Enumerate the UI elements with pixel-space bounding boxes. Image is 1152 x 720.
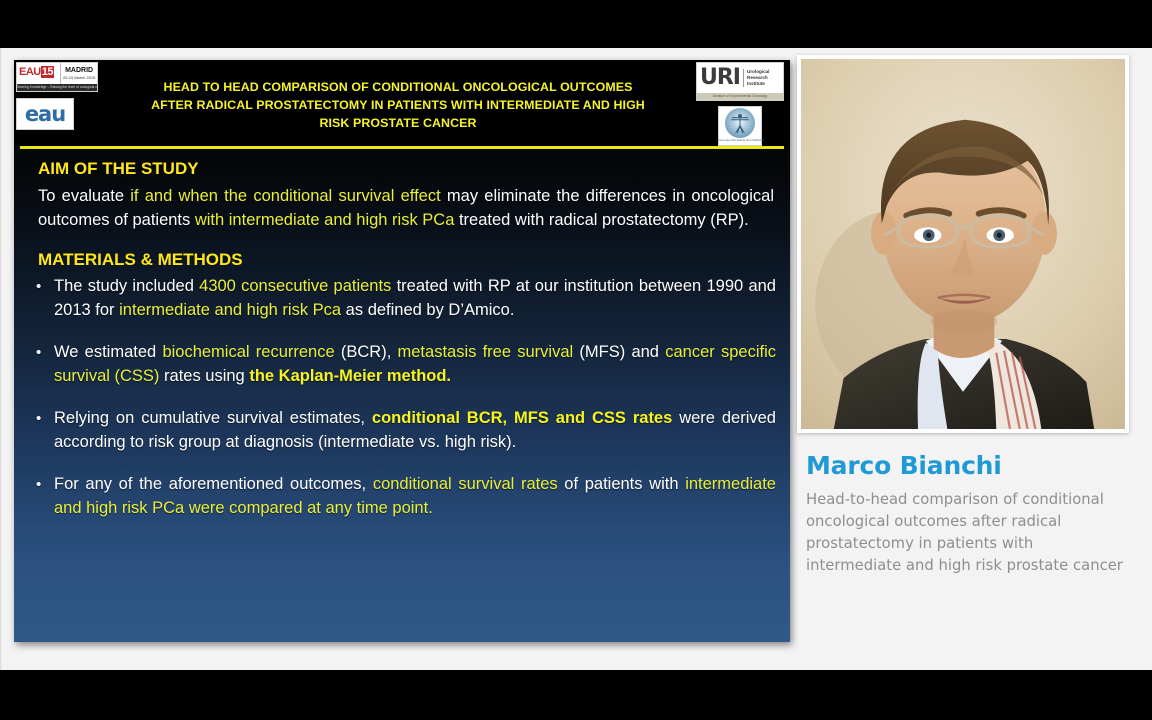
eau15-dates-label: 20-24 March 2015 [63,75,95,81]
methods-heading: MATERIALS & METHODS [38,249,776,270]
vitruvian-caption: Università Vita-Salute San Raffaele [717,138,764,143]
methods-bullet-list: • The study included 4300 consecutive pa… [28,275,776,520]
screenshot-viewport: EAU15 MADRID 20-24 March 2015 Sharing Kn… [0,0,1152,720]
slide-title-line-3: RISK PROSTATE CANCER [110,114,686,132]
uri-word-3: Institute [747,81,769,87]
vitruvian-figure-icon [729,112,751,134]
slide-title: HEAD TO HEAD COMPARISON OF CONDITIONAL O… [106,60,690,146]
header-right-logos: URI Urological Research Institute Divisi… [690,60,790,146]
bullet-icon: • [36,341,41,365]
bullet-text: We estimated biochemical recurrence (BCR… [54,343,776,385]
uri-fullname: Urological Research Institute [743,69,769,87]
eau15-tagline: Sharing Knowledge – Raising the level of… [17,84,97,91]
header-left-logos: EAU15 MADRID 20-24 March 2015 Sharing Kn… [14,60,106,146]
vitruvian-circle-icon [725,108,755,138]
portrait-photo-icon [801,59,1125,429]
bullet-text: Relying on cumulative survival estimates… [54,409,776,451]
author-panel: Marco Bianchi Head-to-head comparison of… [797,55,1137,577]
slide-body: AIM OF THE STUDY To evaluate if and when… [14,149,790,642]
list-item: • We estimated biochemical recurrence (B… [28,341,776,388]
uri-logo: URI Urological Research Institute Divisi… [696,62,784,101]
eau15-wordmark: EAU15 [17,63,60,84]
eau-logo: eau [16,98,74,130]
bullet-icon: • [36,473,41,497]
page-left-shadow [0,48,2,670]
aim-heading: AIM OF THE STUDY [38,158,776,179]
eau15-madrid-logo: EAU15 MADRID 20-24 March 2015 Sharing Kn… [16,62,98,92]
bullet-icon: • [36,275,41,299]
author-description: Head-to-head comparison of conditional o… [806,489,1123,577]
avatar [801,59,1125,429]
eau15-city-label: MADRID [65,67,93,75]
list-item: • The study included 4300 consecutive pa… [28,275,776,322]
author-portrait-frame [797,55,1129,433]
bullet-icon: • [36,407,41,431]
aim-paragraph: To evaluate if and when the conditional … [38,185,774,232]
uri-subtitle: Division of Experimental Oncology [697,93,783,100]
list-item: • Relying on cumulative survival estimat… [28,407,776,454]
bullet-text: For any of the aforementioned outcomes, … [54,475,776,517]
list-item: • For any of the aforementioned outcomes… [28,473,776,520]
slide-header: EAU15 MADRID 20-24 March 2015 Sharing Kn… [14,60,790,146]
bullet-text: The study included 4300 consecutive pati… [54,277,776,319]
presentation-slide[interactable]: EAU15 MADRID 20-24 March 2015 Sharing Kn… [14,60,790,642]
slide-title-line-1: HEAD TO HEAD COMPARISON OF CONDITIONAL O… [110,78,686,96]
page-canvas: EAU15 MADRID 20-24 March 2015 Sharing Kn… [0,48,1152,670]
uri-wordmark: URI [700,66,740,90]
slide-title-line-2: AFTER RADICAL PROSTATECTOMY IN PATIENTS … [110,96,686,114]
author-name: Marco Bianchi [806,451,1137,480]
vitruvian-man-logo: Università Vita-Salute San Raffaele [718,106,762,146]
